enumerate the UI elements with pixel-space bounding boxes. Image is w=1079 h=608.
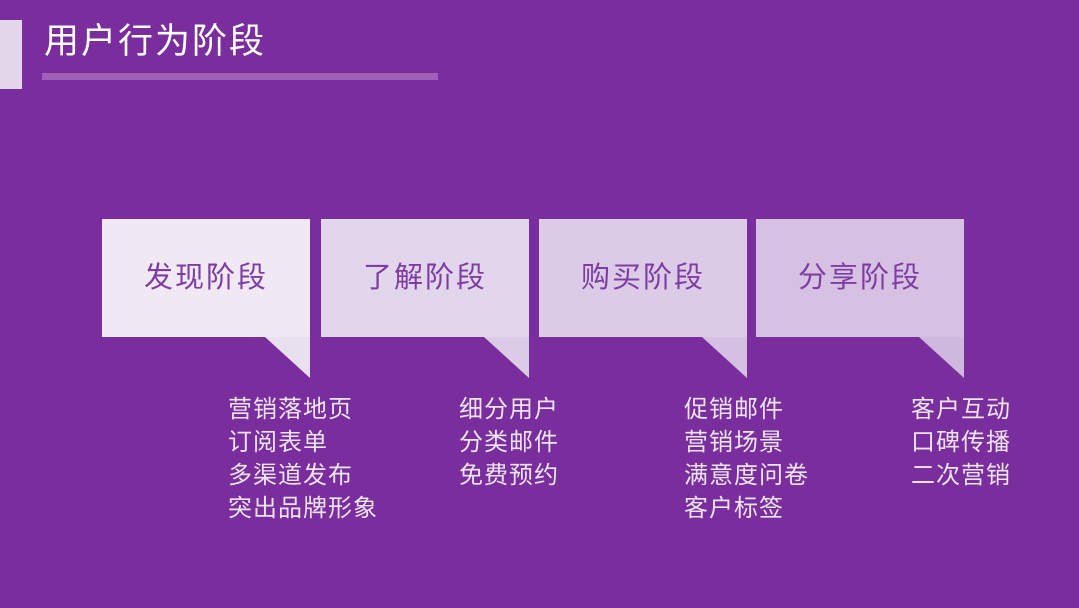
stage-bubble-1[interactable]: 发现阶段 — [102, 219, 310, 337]
list-item: 口碑传播 — [911, 426, 1011, 459]
stage-bubble-3[interactable]: 购买阶段 — [539, 219, 747, 337]
stage-label-1: 发现阶段 — [144, 261, 268, 295]
stage-group-3[interactable]: 购买阶段 — [539, 219, 747, 337]
stage-items-3: 促销邮件 营销场景 满意度问卷 客户标签 — [684, 393, 809, 525]
stage-label-4: 分享阶段 — [798, 261, 922, 295]
list-item: 客户标签 — [684, 492, 809, 525]
page-title: 用户行为阶段 — [44, 18, 266, 66]
list-item: 营销落地页 — [228, 393, 378, 426]
speech-tail-icon — [265, 337, 310, 378]
stage-items-1: 营销落地页 订阅表单 多渠道发布 突出品牌形象 — [228, 393, 378, 525]
list-item: 促销邮件 — [684, 393, 809, 426]
stage-group-2[interactable]: 了解阶段 — [321, 219, 529, 337]
stage-items-4: 客户互动 口碑传播 二次营销 — [911, 393, 1011, 492]
list-item: 分类邮件 — [459, 426, 559, 459]
list-item: 客户互动 — [911, 393, 1011, 426]
title-accent-bar — [0, 20, 22, 89]
stage-label-2: 了解阶段 — [363, 261, 487, 295]
list-item: 细分用户 — [459, 393, 559, 426]
list-item: 免费预约 — [459, 459, 559, 492]
stage-label-3: 购买阶段 — [581, 261, 705, 295]
speech-tail-icon — [919, 337, 964, 378]
stage-bubble-4[interactable]: 分享阶段 — [756, 219, 964, 337]
speech-tail-icon — [484, 337, 529, 378]
title-underline-rule — [42, 73, 438, 80]
list-item: 突出品牌形象 — [228, 492, 378, 525]
stage-bubble-2[interactable]: 了解阶段 — [321, 219, 529, 337]
stage-group-1[interactable]: 发现阶段 — [102, 219, 310, 337]
stage-group-4[interactable]: 分享阶段 — [756, 219, 964, 337]
list-item: 满意度问卷 — [684, 459, 809, 492]
list-item: 订阅表单 — [228, 426, 378, 459]
speech-tail-icon — [702, 337, 747, 378]
slide-canvas: 用户行为阶段 发现阶段 营销落地页 订阅表单 多渠道发布 突出品牌形象 了解阶段… — [0, 0, 1079, 608]
list-item: 多渠道发布 — [228, 459, 378, 492]
stage-items-2: 细分用户 分类邮件 免费预约 — [459, 393, 559, 492]
list-item: 营销场景 — [684, 426, 809, 459]
list-item: 二次营销 — [911, 459, 1011, 492]
